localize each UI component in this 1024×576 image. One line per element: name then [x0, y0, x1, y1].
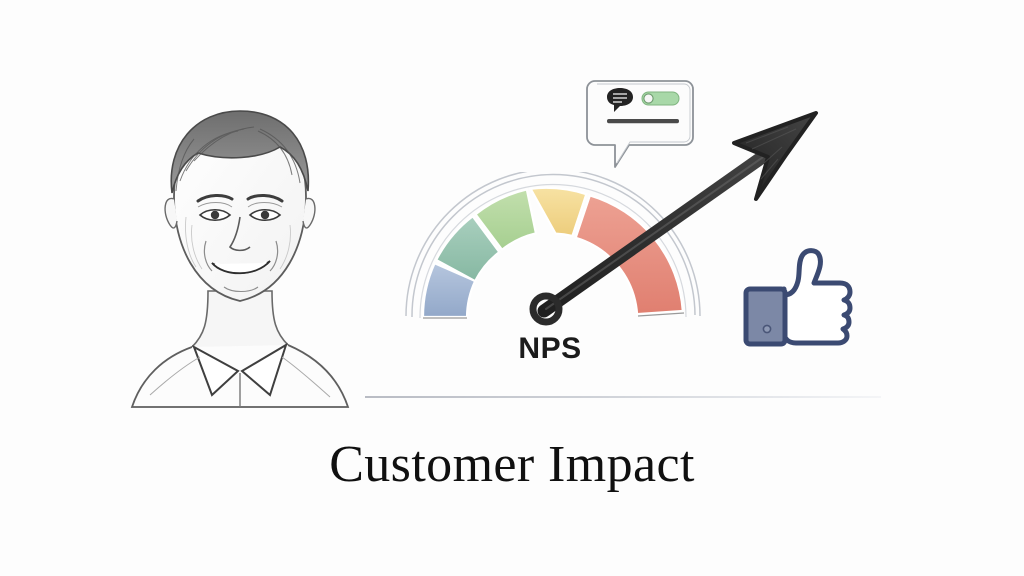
infographic-canvas: NPS	[0, 0, 1024, 576]
arrow-head	[734, 113, 816, 199]
upward-growth-arrow	[520, 95, 840, 335]
portrait-eye-left	[200, 210, 230, 221]
customer-portrait-sketch	[120, 95, 360, 415]
baseline-rule	[365, 396, 881, 398]
portrait-eye-right	[250, 210, 280, 221]
gauge-label-nps: NPS	[460, 332, 640, 366]
arrow-shaft-highlight	[546, 141, 786, 309]
page-title: Customer Impact	[182, 435, 842, 494]
